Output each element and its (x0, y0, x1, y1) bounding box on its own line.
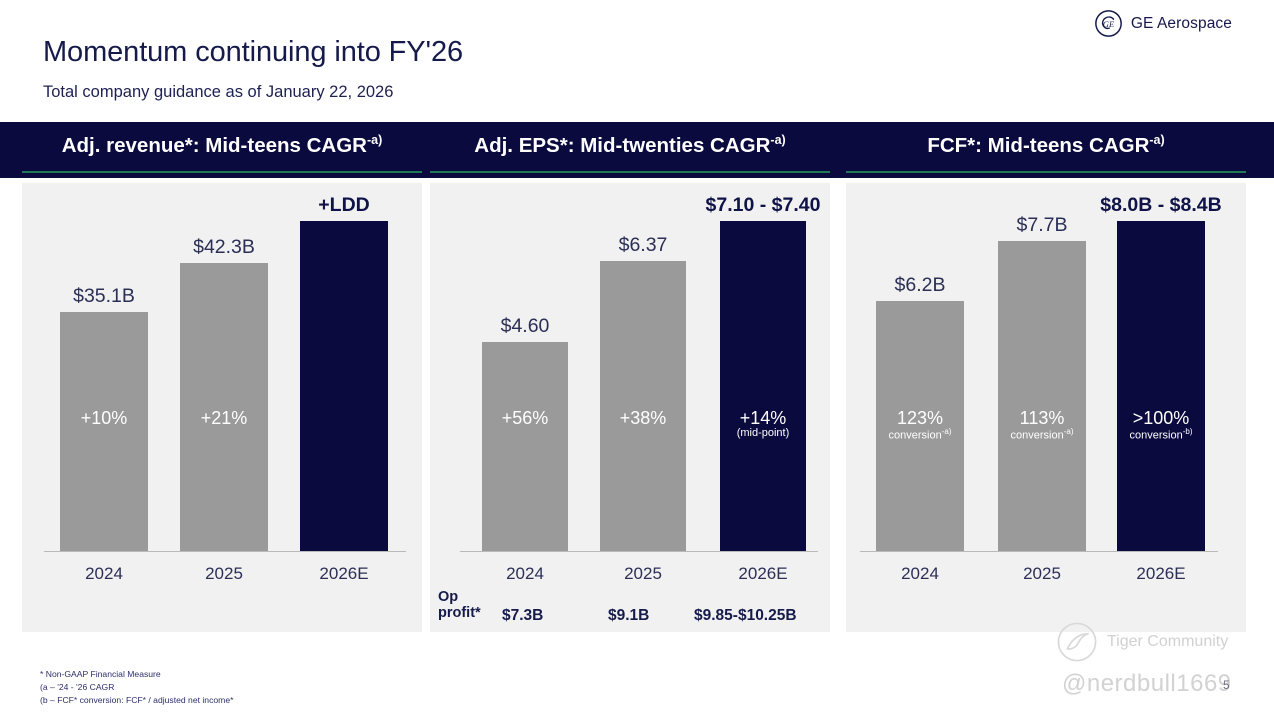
bar-chart-adj-revenue: $35.1B+10%2024$42.3B+21%2025+LDD2026E (22, 183, 422, 632)
bar-chart-adj-eps: $4.60+56%2024$6.37+38%2025$7.10 - $7.40+… (430, 183, 830, 632)
bar-inner-label-2024: 123%conversion-a) (850, 409, 990, 443)
bar-inner-value: +10% (34, 409, 174, 428)
bar-inner-sublabel: conversion-a) (850, 428, 990, 443)
chart-axis-line (44, 551, 406, 552)
slide: GE GE Aerospace Momentum continuing into… (0, 0, 1274, 713)
x-axis-label-2026e: 2026E (1101, 564, 1221, 584)
band-label-adj-revenue: Adj. revenue*: Mid-teens CAGR-a) (22, 133, 422, 158)
bar-inner-value: +21% (154, 409, 294, 428)
bar-inner-label-2025: +21% (154, 409, 294, 428)
svg-text:GE: GE (1103, 19, 1115, 29)
bar-value-label-2026e: +LDD (234, 194, 454, 217)
footnote-non-gaap: * Non-GAAP Financial Measure (40, 668, 233, 681)
x-axis-label-2024: 2024 (44, 564, 164, 584)
op-profit-value-2026e: $9.85-$10.25B (694, 607, 797, 625)
bar-2026e (1117, 221, 1205, 551)
footnotes: * Non-GAAP Financial Measure (a – '24 - … (40, 668, 233, 707)
footnote-b: (b – FCF* conversion: FCF* / adjusted ne… (40, 694, 233, 707)
band-item-adj-eps: Adj. EPS*: Mid-twenties CAGR-a) (430, 122, 830, 178)
bar-inner-value: 123% (850, 409, 990, 428)
op-profit-value-2024: $7.3B (502, 607, 543, 625)
page-number: 5 (1223, 678, 1230, 692)
bar-2024 (482, 342, 568, 551)
bar-2024 (60, 312, 148, 551)
bar-inner-value: >100% (1091, 409, 1231, 428)
watermark-tiger-community: Tiger Community (1055, 620, 1228, 664)
bar-2025 (998, 241, 1086, 551)
ge-aerospace-logo: GE GE Aerospace (1095, 10, 1232, 37)
band-item-fcf: FCF*: Mid-teens CAGR-a) (846, 122, 1246, 178)
bar-inner-sublabel: conversion-b) (1091, 428, 1231, 443)
tiger-swirl-icon (1055, 620, 1099, 664)
band-underline (846, 171, 1246, 173)
x-axis-label-2024: 2024 (465, 564, 585, 584)
bar-inner-value: +38% (573, 409, 713, 428)
chart-axis-line (460, 551, 818, 552)
bar-inner-label-2026e: +14%(mid-point) (693, 409, 833, 440)
page-title: Momentum continuing into FY'26 (43, 36, 463, 69)
bar-2026e (720, 221, 806, 551)
band-label-fcf: FCF*: Mid-teens CAGR-a) (846, 133, 1246, 158)
page-subtitle: Total company guidance as of January 22,… (43, 83, 393, 102)
bar-2025 (180, 263, 268, 551)
op-profit-label: Op profit* (438, 589, 500, 621)
band-item-adj-revenue: Adj. revenue*: Mid-teens CAGR-a) (22, 122, 422, 178)
bar-inner-label-2026e: >100%conversion-b) (1091, 409, 1231, 443)
x-axis-label-2025: 2025 (982, 564, 1102, 584)
bar-inner-sublabel: (mid-point) (693, 428, 833, 440)
bar-inner-value: +14% (693, 409, 833, 428)
op-profit-value-2025: $9.1B (608, 607, 649, 625)
x-axis-label-2026e: 2026E (284, 564, 404, 584)
ge-monogram-icon: GE (1095, 10, 1122, 37)
bar-value-label-2026e: $8.0B - $8.4B (1051, 194, 1271, 217)
band-label-adj-eps: Adj. EPS*: Mid-twenties CAGR-a) (430, 133, 830, 158)
bar-2025 (600, 261, 686, 551)
x-axis-label-2024: 2024 (860, 564, 980, 584)
brand-name: GE Aerospace (1131, 15, 1232, 33)
band-underline (22, 171, 422, 173)
chart-axis-line (860, 551, 1218, 552)
chart-panel-adj-eps: $4.60+56%2024$6.37+38%2025$7.10 - $7.40+… (430, 183, 830, 632)
watermark-handle: @nerdbull1669 (1062, 670, 1232, 698)
section-header-band: Adj. revenue*: Mid-teens CAGR-a) Adj. EP… (0, 122, 1274, 178)
bar-inner-label-2025: +38% (573, 409, 713, 428)
chart-panel-adj-revenue: $35.1B+10%2024$42.3B+21%2025+LDD2026E (22, 183, 422, 632)
bar-value-label-2026e: $7.10 - $7.40 (653, 194, 873, 217)
x-axis-label-2025: 2025 (164, 564, 284, 584)
band-underline (430, 171, 830, 173)
watermark-text: Tiger Community (1107, 633, 1228, 651)
chart-panel-fcf: $6.2B123%conversion-a)2024$7.7B113%conve… (846, 183, 1246, 632)
footnote-a: (a – '24 - '26 CAGR (40, 681, 233, 694)
bar-chart-fcf: $6.2B123%conversion-a)2024$7.7B113%conve… (846, 183, 1246, 632)
bar-inner-label-2024: +10% (34, 409, 174, 428)
bar-value-label-2024: $6.2B (810, 274, 1030, 297)
x-axis-label-2026e: 2026E (703, 564, 823, 584)
bar-2026e (300, 221, 388, 551)
x-axis-label-2025: 2025 (583, 564, 703, 584)
